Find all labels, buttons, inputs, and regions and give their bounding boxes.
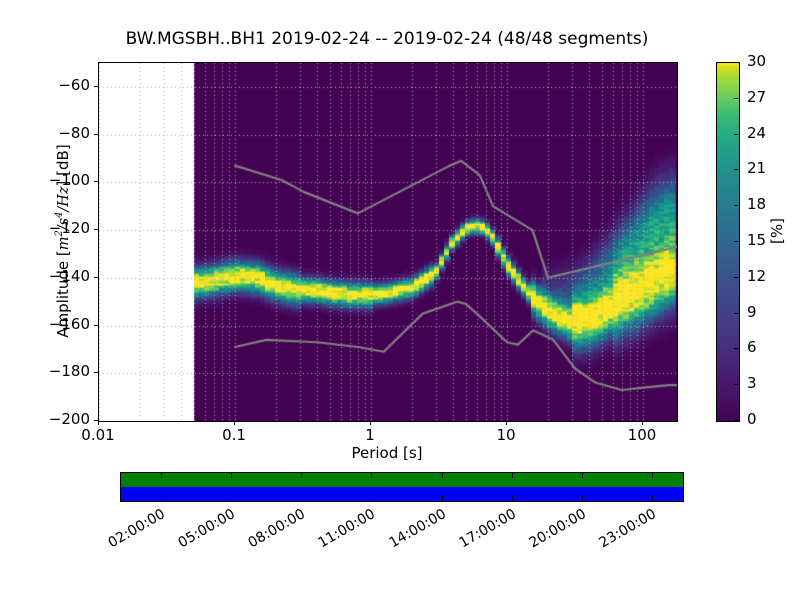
x-tick-mark [98, 420, 99, 425]
timeline-tick-mark [512, 473, 513, 478]
y-tick-mark [94, 325, 99, 326]
timeline-tick-mark [231, 496, 232, 501]
timeline-tick-label: 11:00:00 [308, 506, 378, 556]
y-tick-mark [94, 229, 99, 230]
timeline-axes[interactable] [120, 472, 684, 502]
colorbar-tick-mark [734, 241, 738, 242]
x-tick-mark [370, 420, 371, 425]
ppsd-main-axes[interactable] [98, 62, 678, 422]
colorbar-tick-mark [734, 205, 738, 206]
timeline-tick-mark [301, 473, 302, 478]
timeline-tick-mark [301, 496, 302, 501]
colorbar-tick-mark [734, 98, 738, 99]
colorbar-tick-label: 15 [747, 231, 766, 249]
timeline-tick-mark [442, 496, 443, 501]
colorbar-tick-label: 3 [747, 374, 757, 392]
y-tick-label: −160 [49, 315, 90, 333]
x-tick-label: 10 [466, 426, 546, 444]
timeline-tick-label: 08:00:00 [238, 506, 308, 556]
colorbar-tick-mark [734, 348, 738, 349]
colorbar-tick-label: 0 [747, 410, 757, 428]
timeline-tick-mark [652, 496, 653, 501]
timeline-tick-label: 05:00:00 [167, 506, 237, 556]
colorbar-tick-label: 9 [747, 303, 757, 321]
y-tick-mark [94, 86, 99, 87]
timeline-tick-mark [582, 473, 583, 478]
timeline-tick-label: 23:00:00 [589, 506, 659, 556]
y-tick-mark [94, 134, 99, 135]
colorbar-tick-label: 12 [747, 267, 766, 285]
colorbar-tick-mark [734, 420, 738, 421]
y-tick-mark [94, 181, 99, 182]
x-tick-label: 100 [602, 426, 682, 444]
y-tick-label: −80 [58, 124, 90, 142]
colorbar-tick-label: 21 [747, 159, 766, 177]
colorbar-tick-mark [734, 313, 738, 314]
colorbar-label: [%] [768, 218, 786, 244]
colorbar-tick-mark [734, 62, 738, 63]
timeline-tick-mark [442, 473, 443, 478]
timeline-tick-mark [231, 473, 232, 478]
y-tick-mark [94, 372, 99, 373]
timeline-data-availability-bar [121, 473, 683, 487]
timeline-tick-mark [582, 496, 583, 501]
timeline-tick-mark [652, 473, 653, 478]
x-tick-label: 0.01 [58, 426, 138, 444]
x-tick-label: 0.1 [194, 426, 274, 444]
peterson-noise-model-curves [99, 63, 677, 421]
timeline-tick-label: 17:00:00 [448, 506, 518, 556]
timeline-tick-label: 02:00:00 [97, 506, 167, 556]
x-tick-label: 1 [330, 426, 410, 444]
x-tick-mark [506, 420, 507, 425]
y-tick-label: −140 [49, 267, 90, 285]
colorbar-tick-label: 18 [747, 195, 766, 213]
y-tick-label: −180 [49, 362, 90, 380]
page-title: BW.MGSBH..BH1 2019-02-24 -- 2019-02-24 (… [98, 29, 676, 49]
timeline-tick-mark [371, 496, 372, 501]
y-tick-mark [94, 277, 99, 278]
timeline-psd-coverage-bar [121, 487, 683, 501]
timeline-tick-label: 20:00:00 [519, 506, 589, 556]
x-tick-mark [234, 420, 235, 425]
x-tick-mark [642, 420, 643, 425]
timeline-tick-mark [161, 496, 162, 501]
colorbar-tick-label: 24 [747, 124, 766, 142]
colorbar-tick-mark [734, 384, 738, 385]
colorbar-tick-label: 30 [747, 52, 766, 70]
timeline-tick-mark [512, 496, 513, 501]
ppsd-figure: BW.MGSBH..BH1 2019-02-24 -- 2019-02-24 (… [0, 0, 800, 600]
timeline-tick-mark [371, 473, 372, 478]
timeline-tick-label: 14:00:00 [378, 506, 448, 556]
colorbar-tick-mark [734, 134, 738, 135]
y-tick-label: −100 [49, 171, 90, 189]
x-axis-label: Period [s] [98, 444, 676, 462]
ppsd-plot-area [99, 63, 677, 421]
colorbar-tick-mark [734, 277, 738, 278]
colorbar[interactable] [716, 62, 740, 422]
y-tick-label: −120 [49, 219, 90, 237]
colorbar-tick-label: 27 [747, 88, 766, 106]
timeline-tick-mark [161, 473, 162, 478]
colorbar-tick-label: 6 [747, 338, 757, 356]
colorbar-tick-mark [734, 169, 738, 170]
y-tick-label: −60 [58, 76, 90, 94]
